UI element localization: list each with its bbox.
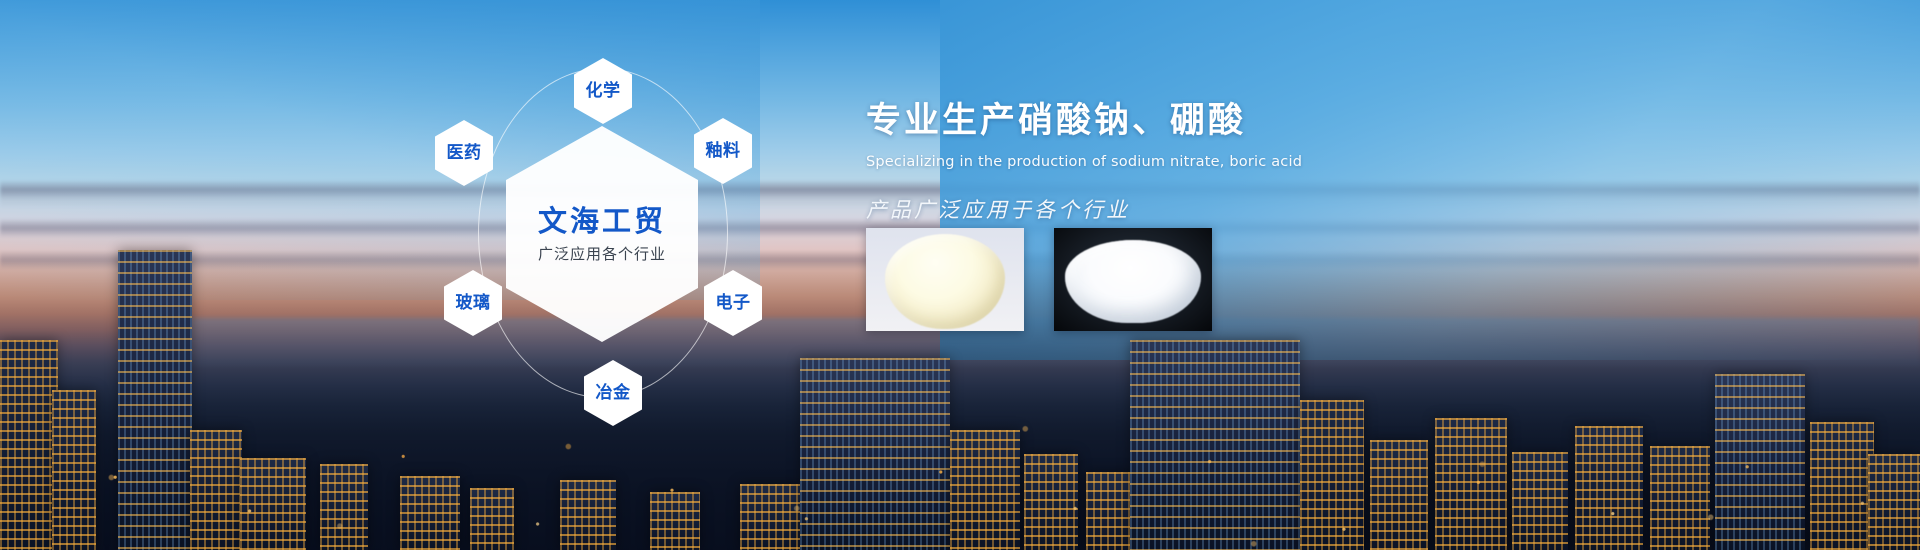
industry-label: 电子 [716, 295, 751, 312]
banner-headline: 专业生产硝酸钠、硼酸 [866, 100, 1566, 144]
industry-hexagon-diagram: 文海工贸 广泛应用各个行业 化学 釉料 电子 冶金 玻璃 医药 [430, 30, 780, 450]
company-tagline: 广泛应用各个行业 [538, 247, 666, 262]
promotional-banner: 文海工贸 广泛应用各个行业 化学 釉料 电子 冶金 玻璃 医药 专业生产硝酸钠、… [0, 0, 1920, 550]
product-photo-boric-acid[interactable] [1054, 228, 1212, 331]
product-photo-gallery [866, 228, 1212, 331]
industry-label: 医药 [447, 145, 482, 162]
industry-label: 釉料 [706, 143, 741, 160]
product-photo-sodium-nitrate[interactable] [866, 228, 1024, 331]
industry-label: 玻璃 [456, 295, 491, 312]
industry-label: 冶金 [596, 385, 631, 402]
banner-copy-block: 专业生产硝酸钠、硼酸 Specializing in the productio… [866, 100, 1566, 224]
banner-tagline: 产品广泛应用于各个行业 [866, 194, 1566, 224]
industry-label: 化学 [586, 83, 621, 100]
company-name: 文海工贸 [538, 207, 666, 236]
industry-hexagon-pharmaceutical[interactable]: 医药 [435, 120, 493, 186]
banner-subheadline-english: Specializing in the production of sodium… [866, 154, 1566, 170]
